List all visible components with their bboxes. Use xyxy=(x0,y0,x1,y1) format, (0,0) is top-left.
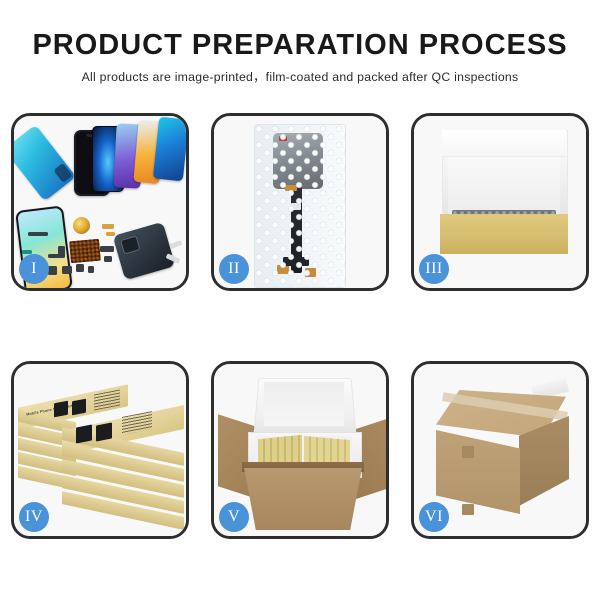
carton-handle-tab xyxy=(462,446,474,458)
foam-cooler-lid-inner xyxy=(264,382,344,426)
step-badge-2: II xyxy=(219,254,249,284)
step-badge-6: VI xyxy=(419,502,449,532)
page-title: PRODUCT PREPARATION PROCESS xyxy=(0,0,600,60)
box-print-thumbnail xyxy=(96,422,112,441)
step-4-photo: Mobile Phone Spare Parts IV xyxy=(14,364,186,536)
box-print-thumbnail xyxy=(54,401,68,418)
spare-part xyxy=(62,266,72,274)
process-step-panel-6: VI xyxy=(411,361,589,539)
step-3-photo: III xyxy=(414,116,586,288)
page-subtitle: All products are image-printed，film-coat… xyxy=(0,60,600,83)
spare-part xyxy=(170,240,183,249)
foam-lid-flap xyxy=(442,130,566,157)
process-step-panel-2: II xyxy=(211,113,389,291)
phone-teal xyxy=(153,117,189,182)
spare-part xyxy=(102,224,114,229)
process-step-panel-1: I xyxy=(11,113,189,291)
step-badge-1: I xyxy=(19,254,49,284)
step-2-photo: II xyxy=(214,116,386,288)
bubble-texture xyxy=(255,125,345,287)
process-step-panel-4: Mobile Phone Spare Parts IV xyxy=(11,361,189,539)
process-step-panel-5: V xyxy=(211,361,389,539)
process-step-panel-3: III xyxy=(411,113,589,291)
carton-front-panel xyxy=(244,468,362,530)
copper-coil-part xyxy=(72,216,92,236)
chip-array-part xyxy=(69,239,101,264)
carton-front-face xyxy=(436,430,520,514)
box-print-thumbnail xyxy=(76,424,92,443)
box-print-thumbnail xyxy=(72,399,86,416)
spare-part xyxy=(48,254,60,258)
foam-insert xyxy=(448,154,560,216)
spare-part xyxy=(48,266,57,275)
bubble-wrap-bag xyxy=(254,124,346,288)
spare-part xyxy=(100,246,114,252)
step-1-photo: I xyxy=(14,116,186,288)
spare-part xyxy=(104,256,112,262)
step-badge-5: V xyxy=(219,502,249,532)
step-badge-3: III xyxy=(419,254,449,284)
phone-blue-tilted xyxy=(11,125,76,202)
spare-part xyxy=(106,232,115,236)
spare-part xyxy=(76,264,84,272)
carton-handle-tab xyxy=(462,504,474,515)
step-badge-4: IV xyxy=(19,502,49,532)
product-preparation-infographic: PRODUCT PREPARATION PROCESS All products… xyxy=(0,0,600,600)
step-5-photo: V xyxy=(214,364,386,536)
spare-part xyxy=(28,232,48,236)
kraft-box-front xyxy=(440,232,568,254)
phone-back-housing xyxy=(113,222,176,281)
step-6-photo: VI xyxy=(414,364,586,536)
spare-part xyxy=(88,266,94,273)
header: PRODUCT PREPARATION PROCESS All products… xyxy=(0,0,600,83)
process-step-grid: I II xyxy=(11,113,589,539)
